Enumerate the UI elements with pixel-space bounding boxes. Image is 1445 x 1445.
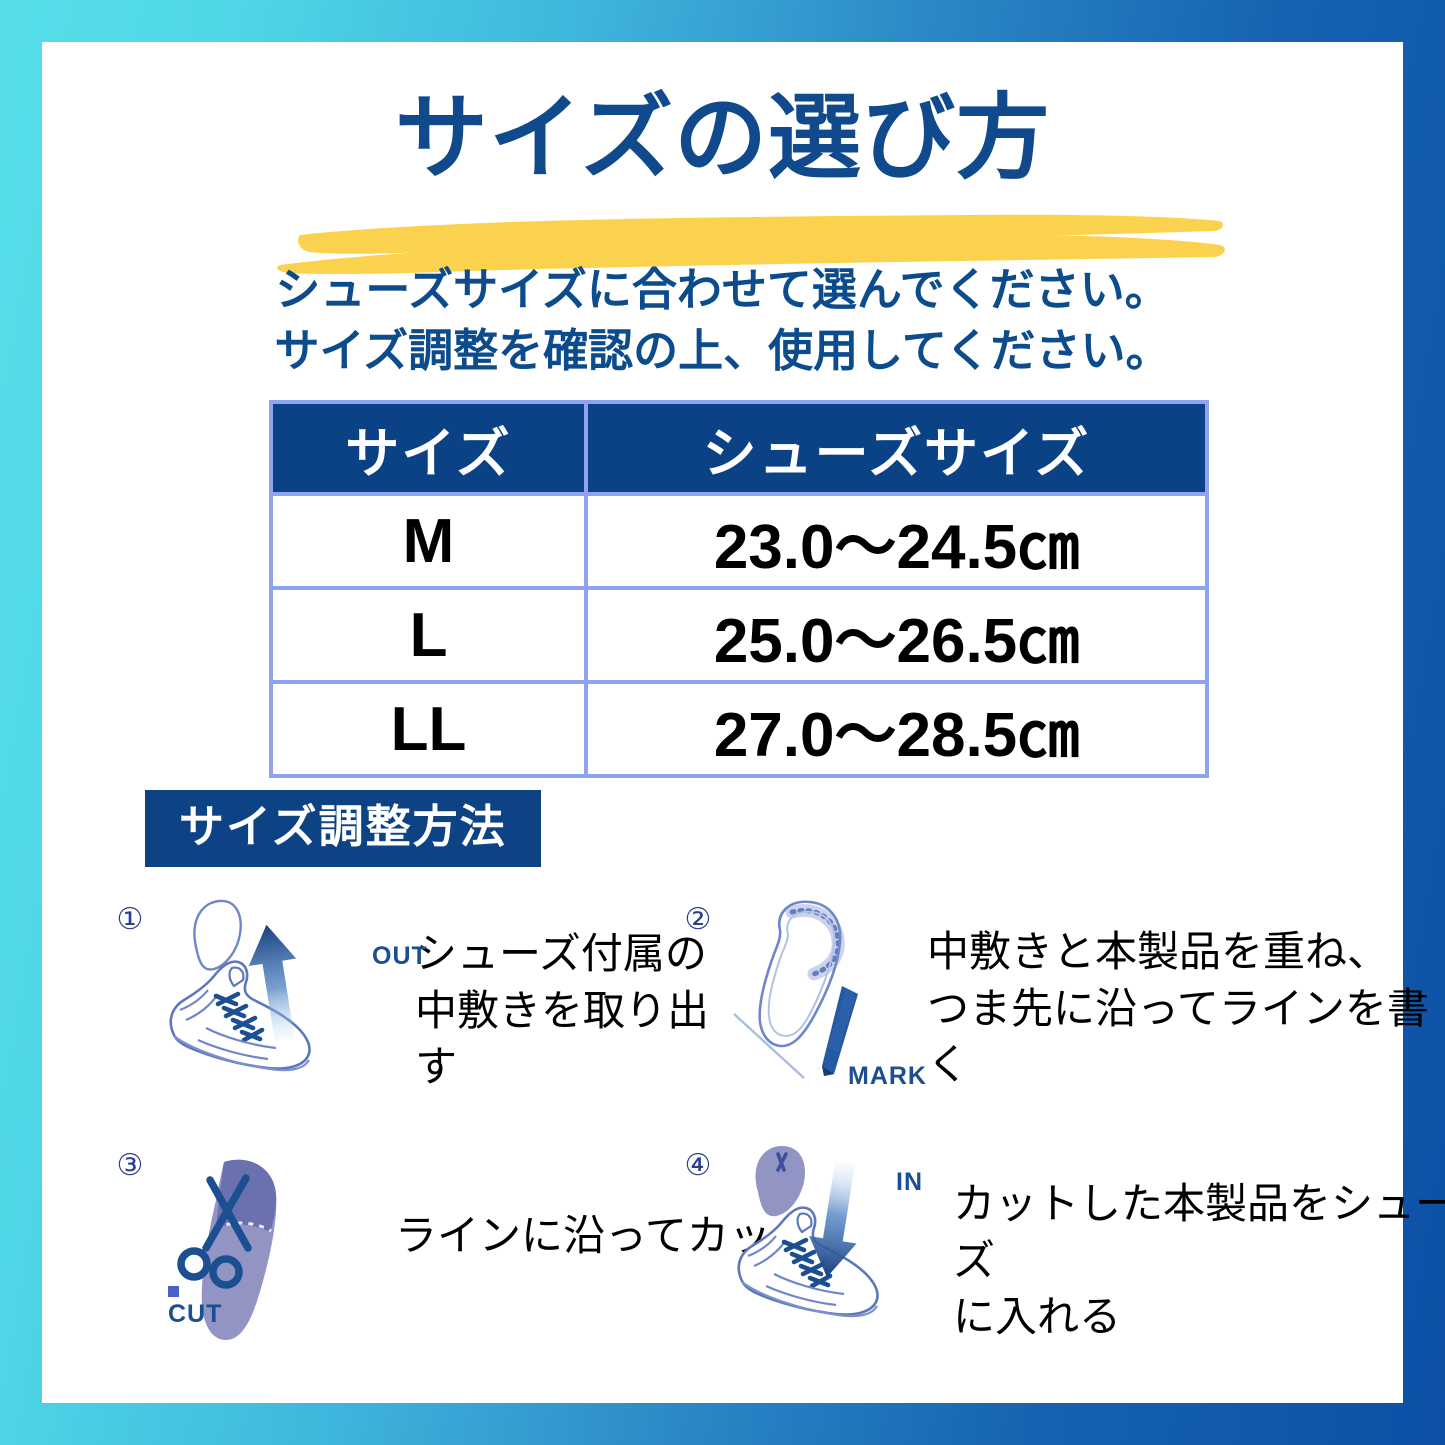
table-row: L 25.0〜26.5㎝ (271, 588, 1207, 682)
step-1: ① (110, 890, 715, 1105)
lead-line-2: サイズ調整を確認の上、使用してください。 (42, 321, 1403, 382)
header-size: サイズ (271, 402, 586, 494)
cell-shoe-size: 25.0〜26.5㎝ (586, 588, 1207, 682)
cell-shoe-size: 27.0〜28.5㎝ (586, 682, 1207, 776)
in-label: IN (896, 1168, 923, 1197)
step-number-2: ② (678, 900, 718, 940)
cut-label: CUT (168, 1300, 222, 1329)
step-4: ④ (678, 1136, 1445, 1351)
cell-shoe-size: 23.0〜24.5㎝ (586, 494, 1207, 588)
step-2: ② (678, 890, 1445, 1105)
size-table-body: M 23.0〜24.5㎝ L 25.0〜26.5㎝ LL 27.0〜28.5㎝ (271, 494, 1207, 776)
step-number-3: ③ (110, 1146, 150, 1186)
table-row: M 23.0〜24.5㎝ (271, 494, 1207, 588)
table-row: LL 27.0〜28.5㎝ (271, 682, 1207, 776)
lead-paragraph: シューズサイズに合わせて選んでください。 サイズ調整を確認の上、使用してください… (42, 260, 1403, 382)
lead-line-1: シューズサイズに合わせて選んでください。 (42, 260, 1403, 321)
mark-label: MARK (848, 1062, 927, 1091)
step-4-text: カットした本製品をシューズ に入れる (953, 1136, 1445, 1346)
step-1-text: シューズ付属の 中敷きを取り出す (415, 890, 715, 1096)
cell-size: L (271, 588, 586, 682)
cell-size: M (271, 494, 586, 588)
step-number-4: ④ (678, 1146, 718, 1186)
out-label: OUT (372, 942, 428, 971)
section-heading-size-adjustment: サイズ調整方法 (145, 790, 541, 867)
page-title: サイズの選び方 (42, 92, 1403, 185)
header-shoe-size: シューズサイズ (586, 402, 1207, 494)
step-2-text: 中敷きと本製品を重ね、 つま先に沿ってラインを書く (927, 890, 1445, 1094)
size-table: サイズ シューズサイズ M 23.0〜24.5㎝ L 25.0〜26.5㎝ LL… (269, 400, 1209, 778)
step-number-1: ① (110, 900, 150, 940)
table-header-row: サイズ シューズサイズ (271, 402, 1207, 494)
size-table-head: サイズ シューズサイズ (271, 402, 1207, 494)
shoe-out-icon (150, 890, 365, 1105)
poster-canvas: サイズの選び方 シューズサイズに合わせて選んでください。 サイズ調整を確認の上、… (42, 42, 1403, 1403)
cell-size: LL (271, 682, 586, 776)
poster-frame: サイズの選び方 シューズサイズに合わせて選んでください。 サイズ調整を確認の上、… (0, 0, 1445, 1445)
